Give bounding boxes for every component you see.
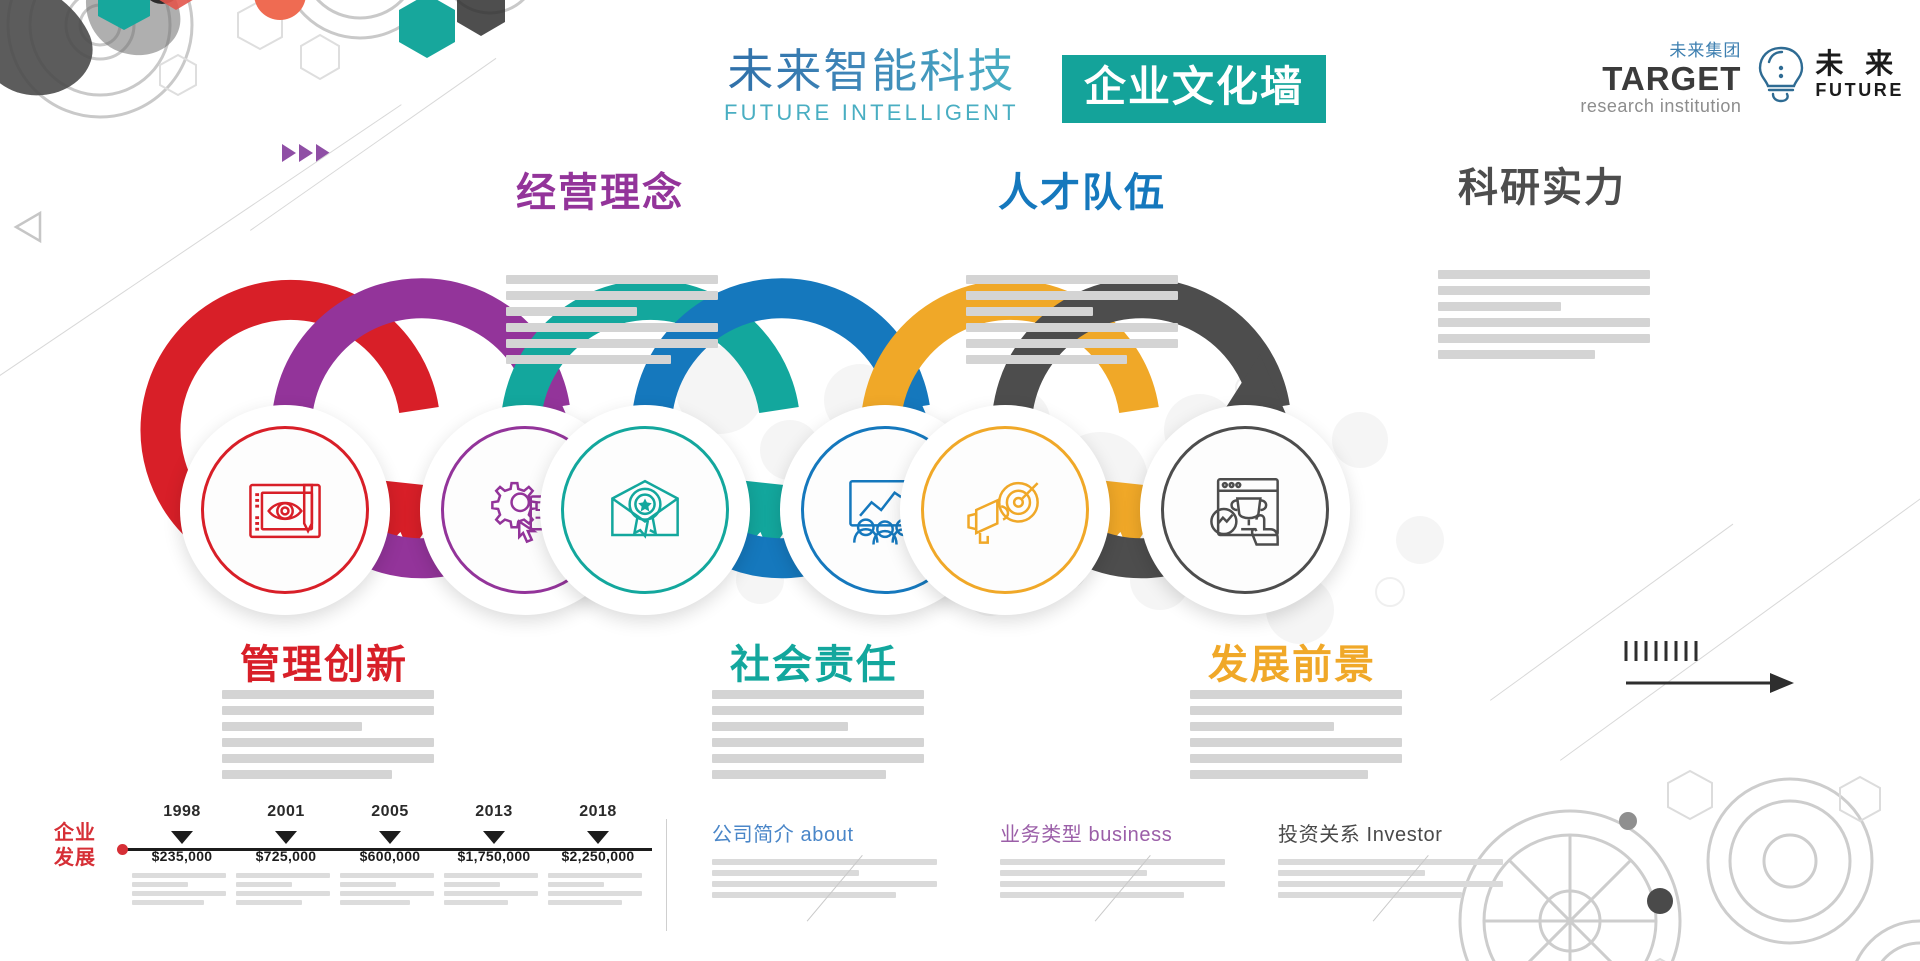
section-title-2: 经营理念: [516, 160, 684, 218]
page-title: 企业文化墙: [1084, 63, 1304, 110]
bottom-nav-title: 公司简介 about: [712, 818, 942, 847]
timeline-item[interactable]: 2018 $2,250,000: [548, 803, 648, 909]
timeline-bars: [548, 873, 648, 905]
section-bars-5: [1190, 690, 1402, 786]
timeline-year: 1998: [132, 803, 232, 821]
section-title-3: 社会责任: [730, 632, 898, 690]
timeline-year: 2001: [236, 803, 336, 821]
timeline-start-dot: [117, 844, 128, 855]
section-title-6: 科研实力: [1458, 155, 1626, 213]
trophy-browser-icon: [1197, 462, 1293, 558]
timeline-item[interactable]: 2013 $1,750,000: [444, 803, 544, 909]
timeline-value: $1,750,000: [444, 848, 544, 864]
timeline-label-line1: 企业: [54, 821, 96, 846]
vertical-divider: [666, 819, 667, 931]
timeline-value: $725,000: [236, 848, 336, 864]
section-title-1: 管理创新: [240, 632, 408, 690]
section-bars-1: [222, 690, 434, 786]
section-bars-3: [712, 690, 924, 786]
bottom-nav-bars: [1278, 859, 1508, 898]
brand-name-cn: 未来智能科技: [724, 48, 1019, 94]
company-logo[interactable]: 未来集团 TARGET research institution 未 来 FUT…: [1580, 42, 1920, 115]
section-bars-4: [966, 275, 1178, 371]
company-timeline: 企业 发展 1998 $235,000 2001 $725,000 2005 $…: [54, 803, 654, 923]
timeline-bars: [340, 873, 440, 905]
timeline-item[interactable]: 2005 $600,000: [340, 803, 440, 909]
timeline-marker-icon: [587, 831, 609, 844]
timeline-year: 2013: [444, 803, 544, 821]
timeline-marker-icon: [171, 831, 193, 844]
node-circle-inner-3: [561, 426, 729, 594]
bottom-nav-item-about[interactable]: 公司简介 about: [712, 818, 942, 903]
logo-future-block: 未 来 FUTURE: [1755, 42, 1920, 106]
timeline-year: 2005: [340, 803, 440, 821]
section-bars-6: [1438, 270, 1650, 366]
timeline-label: 企业 发展: [54, 821, 96, 871]
bottom-nav-item-business[interactable]: 业务类型 business: [1000, 818, 1230, 903]
design-tablet-icon: [237, 462, 333, 558]
timeline-bars: [236, 873, 336, 905]
brand-name-en: FUTURE INTELLIGENT: [724, 100, 1019, 126]
logo-target-cn: 未来集团: [1580, 42, 1741, 59]
timeline-value: $600,000: [340, 848, 440, 864]
page-title-badge: 企业文化墙: [1062, 55, 1326, 123]
brand-block: 未来智能科技 FUTURE INTELLIGENT: [724, 48, 1019, 126]
timeline-label-line2: 发展: [54, 846, 96, 871]
timeline-marker-icon: [379, 831, 401, 844]
section-title-5: 发展前景: [1208, 632, 1376, 690]
bottom-nav-item-investor[interactable]: 投资关系 Investor: [1278, 818, 1508, 903]
bottom-nav-bars: [1000, 859, 1230, 898]
logo-future-cn: 未 来: [1815, 50, 1904, 78]
bottom-nav-title: 投资关系 Investor: [1278, 818, 1508, 847]
timeline-value: $2,250,000: [548, 848, 648, 864]
page-header: 未来智能科技 FUTURE INTELLIGENT 企业文化墙 未来集团 TAR…: [0, 0, 1920, 160]
node-circle-1[interactable]: [180, 405, 390, 615]
logo-target-block: 未来集团 TARGET research institution: [1580, 42, 1741, 115]
logo-future-en: FUTURE: [1815, 81, 1904, 99]
timeline-bars: [132, 873, 232, 905]
node-circle-inner-6: [1161, 426, 1329, 594]
logo-target-main: TARGET: [1580, 62, 1741, 95]
node-circle-inner-1: [201, 426, 369, 594]
process-flow-diagram: [0, 150, 1920, 690]
section-title-4: 人才队伍: [998, 160, 1166, 218]
timeline-value: $235,000: [132, 848, 232, 864]
section-bars-2: [506, 275, 718, 371]
node-circle-5[interactable]: [900, 405, 1110, 615]
timeline-item[interactable]: 2001 $725,000: [236, 803, 336, 909]
timeline-bars: [444, 873, 544, 905]
timeline-marker-icon: [275, 831, 297, 844]
timeline-item[interactable]: 1998 $235,000: [132, 803, 232, 909]
award-badge-icon: [597, 462, 693, 558]
timeline-marker-icon: [483, 831, 505, 844]
logo-target-sub: research institution: [1580, 97, 1741, 115]
lightbulb-icon: [1755, 42, 1807, 106]
bottom-nav-title: 业务类型 business: [1000, 818, 1230, 847]
timeline-year: 2018: [548, 803, 648, 821]
node-circle-3[interactable]: [540, 405, 750, 615]
node-circle-6[interactable]: [1140, 405, 1350, 615]
bottom-nav-bars: [712, 859, 942, 898]
node-circle-inner-5: [921, 426, 1089, 594]
target-megaphone-icon: [957, 462, 1053, 558]
logo-future-text: 未 来 FUTURE: [1815, 50, 1904, 99]
